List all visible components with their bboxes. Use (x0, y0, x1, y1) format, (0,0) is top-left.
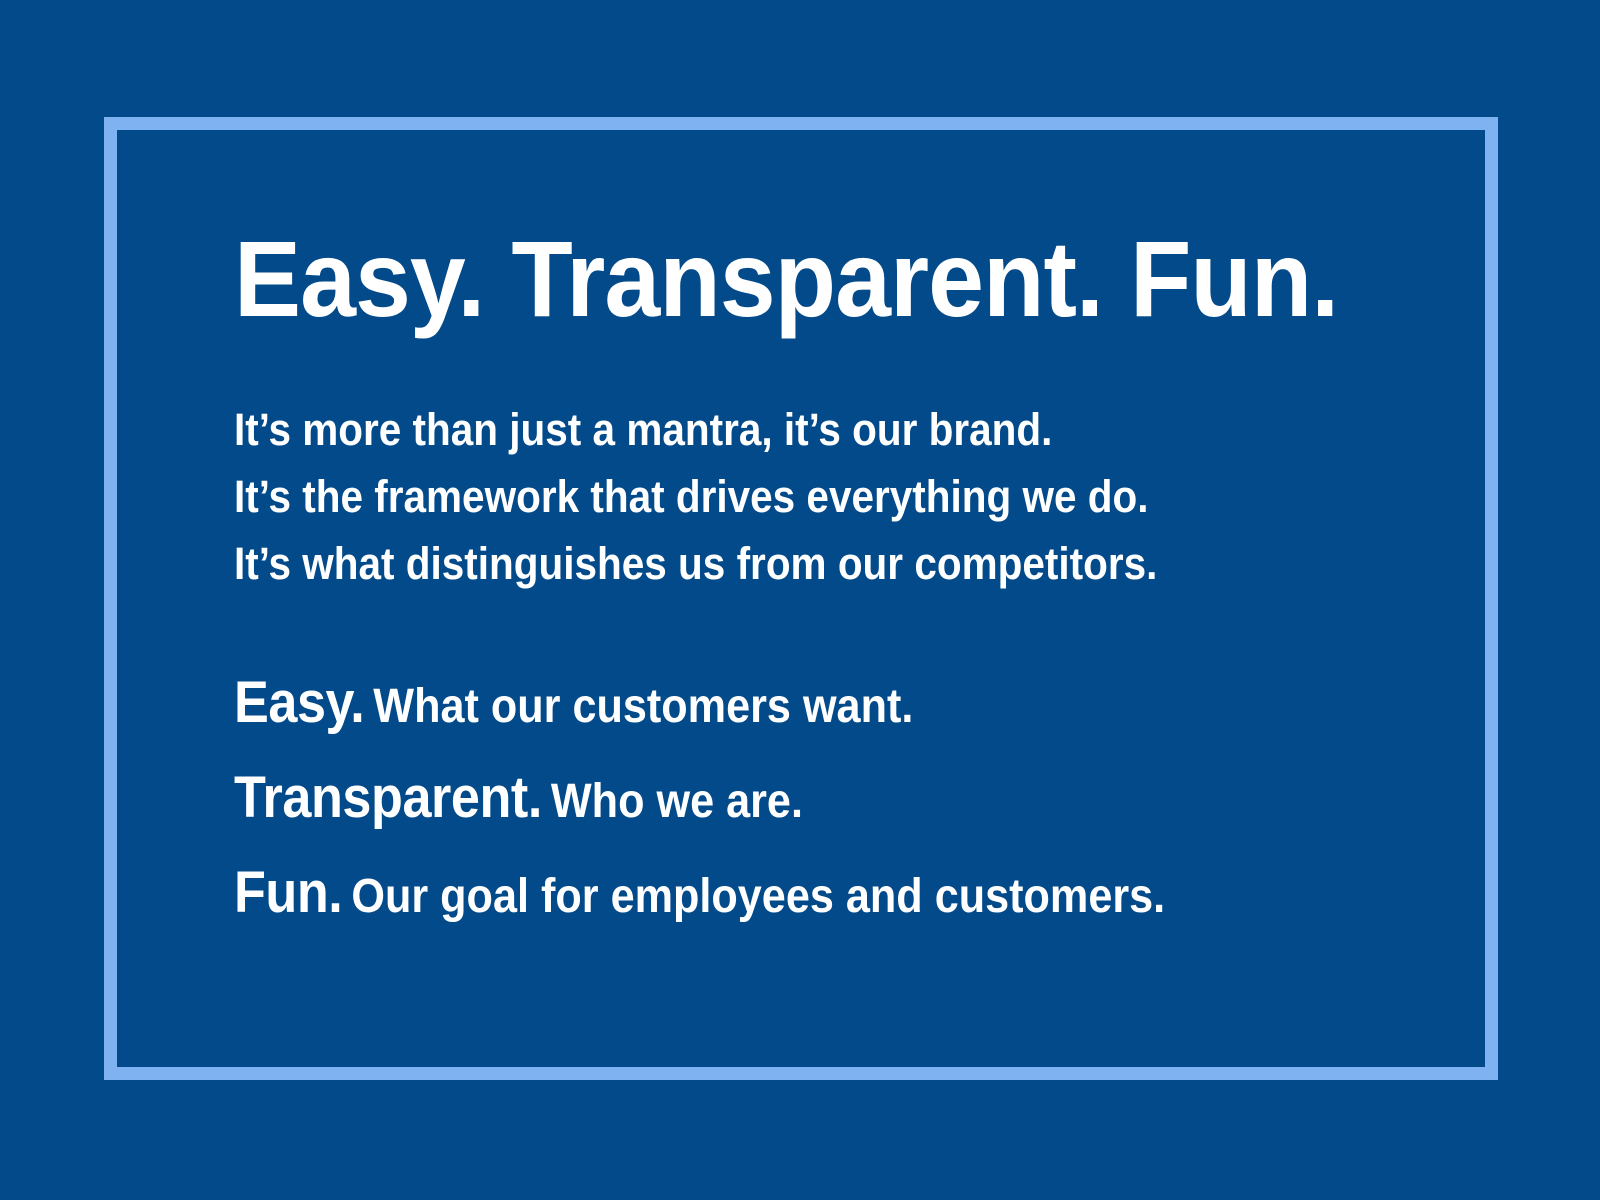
definition-item-easy: Easy.What our customers want. (234, 663, 1296, 758)
intro-line-1: It’s more than just a mantra, it’s our b… (234, 396, 1296, 463)
definition-term-transparent: Transparent. (234, 765, 542, 830)
definition-list: Easy.What our customers want. Transparen… (234, 663, 1414, 948)
definition-description-transparent: Who we are. (551, 775, 803, 828)
slide-content: Easy. Transparent. Fun. It’s more than j… (234, 225, 1414, 948)
intro-line-3: It’s what distinguishes us from our comp… (234, 530, 1296, 597)
intro-paragraph: It’s more than just a mantra, it’s our b… (234, 396, 1414, 597)
definition-item-transparent: Transparent.Who we are. (234, 758, 1296, 853)
definition-description-easy: What our customers want. (373, 680, 913, 733)
intro-line-2: It’s the framework that drives everythin… (234, 463, 1296, 530)
definition-description-fun: Our goal for employees and customers. (351, 870, 1165, 923)
page-title: Easy. Transparent. Fun. (234, 225, 1331, 333)
definition-term-fun: Fun. (234, 860, 342, 925)
definition-item-fun: Fun.Our goal for employees and customers… (234, 853, 1296, 948)
slide-canvas: Easy. Transparent. Fun. It’s more than j… (0, 0, 1600, 1200)
definition-term-easy: Easy. (234, 670, 364, 735)
